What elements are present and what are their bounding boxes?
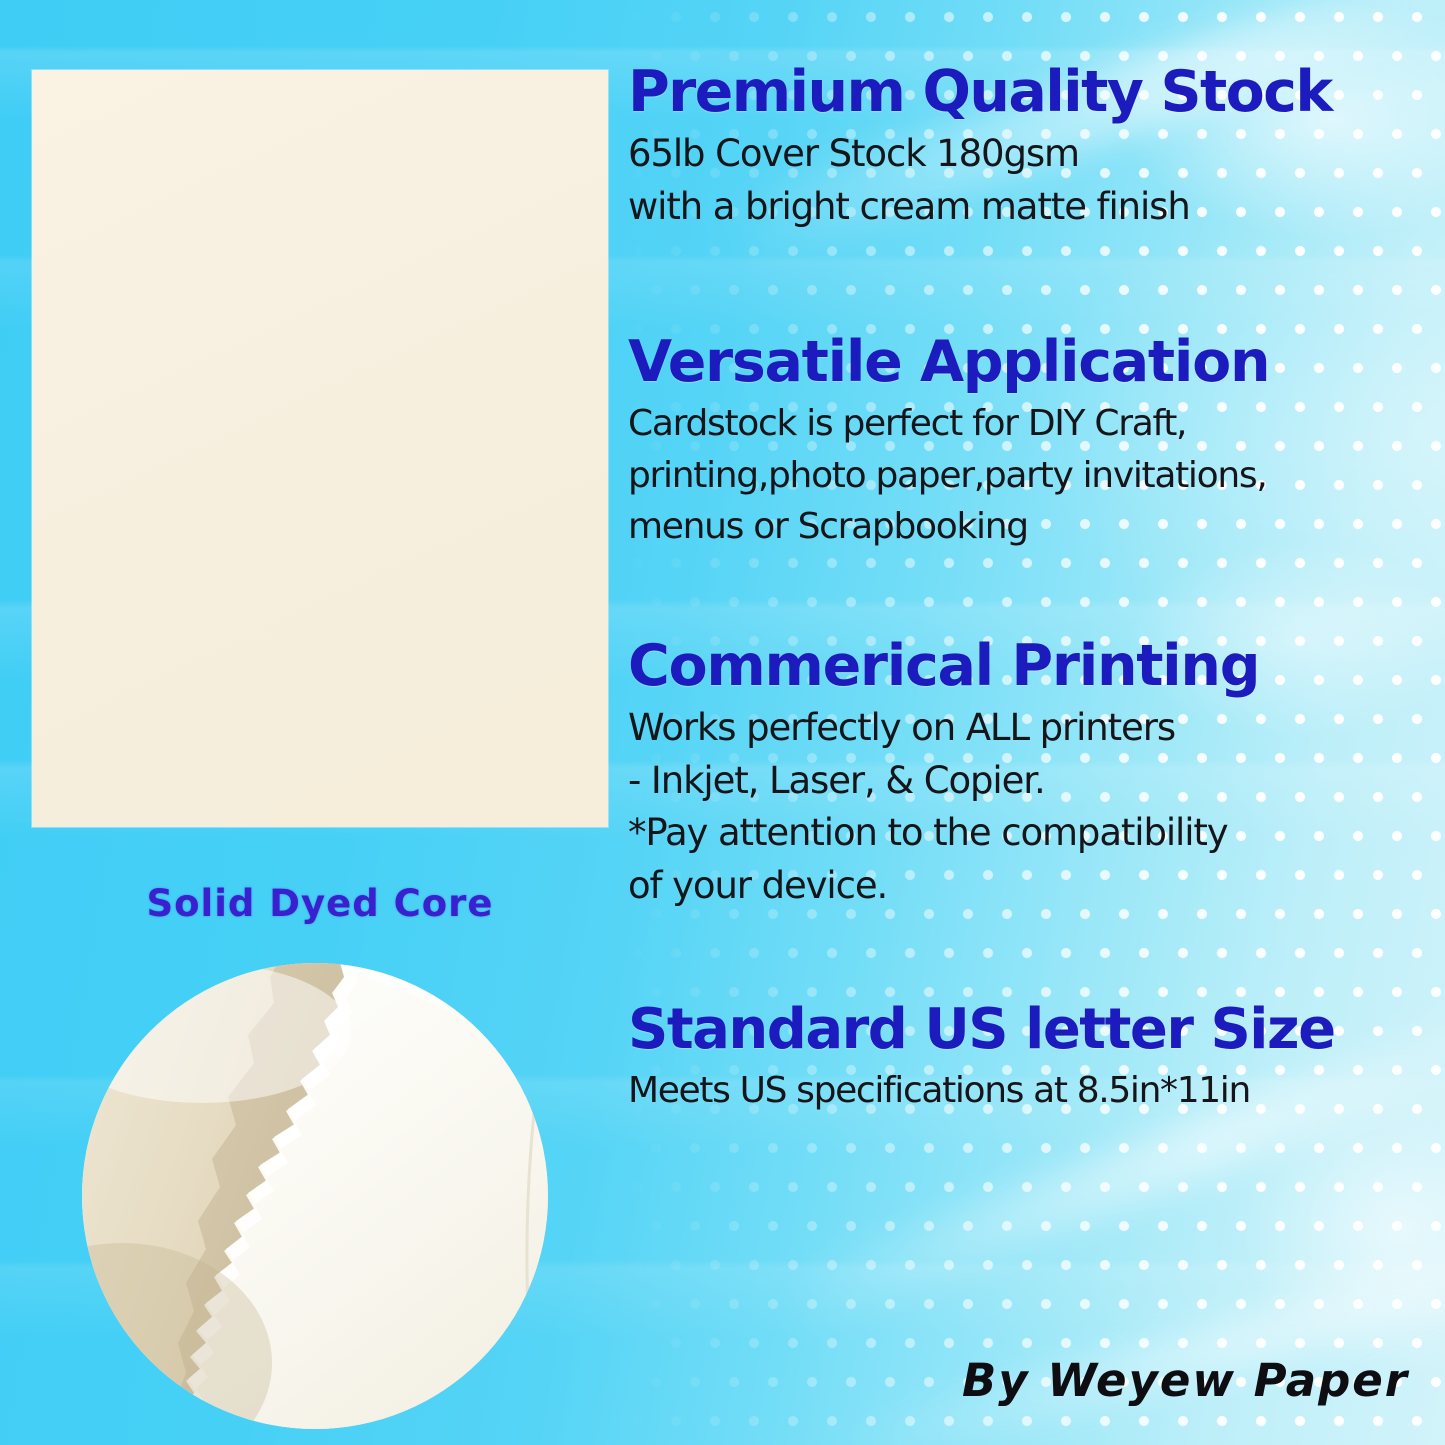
product-infographic: Solid Dyed Core xyxy=(0,0,1445,1445)
brand-signature: By Weyew Paper xyxy=(962,1354,1409,1407)
feature-line: *Pay attention to the compatibility xyxy=(628,807,1445,860)
cream-cardstock-sheet xyxy=(32,70,608,827)
feature-standard-us-letter-size: Standard US letter Size Meets US specifi… xyxy=(628,1000,1445,1116)
feature-line: Works perfectly on ALL printers xyxy=(628,702,1445,755)
feature-line: menus or Scrapbooking xyxy=(628,501,1445,552)
feature-line: Meets US specifications at 8.5in*11in xyxy=(628,1065,1445,1116)
feature-line: Cardstock is perfect for DIY Craft, xyxy=(628,398,1445,449)
solid-dyed-core-label: Solid Dyed Core xyxy=(32,882,608,925)
torn-paper-edge-closeup xyxy=(82,963,548,1429)
feature-line: printing,photo paper,party invitations, xyxy=(628,450,1445,501)
feature-line: - Inkjet, Laser, & Copier. xyxy=(628,755,1445,808)
feature-premium-quality-stock: Premium Quality Stock 65lb Cover Stock 1… xyxy=(628,62,1445,233)
feature-line: with a bright cream matte finish xyxy=(628,181,1445,234)
feature-heading: Standard US letter Size xyxy=(628,1000,1445,1059)
feature-heading: Premium Quality Stock xyxy=(628,62,1445,122)
feature-versatile-application: Versatile Application Cardstock is perfe… xyxy=(628,332,1445,552)
feature-heading: Commerical Printing xyxy=(628,636,1445,696)
feature-line: of your device. xyxy=(628,860,1445,913)
feature-heading: Versatile Application xyxy=(628,332,1445,392)
feature-line: 65lb Cover Stock 180gsm xyxy=(628,128,1445,181)
feature-commerical-printing: Commerical Printing Works perfectly on A… xyxy=(628,636,1445,913)
feature-list: Premium Quality Stock 65lb Cover Stock 1… xyxy=(628,0,1445,1445)
